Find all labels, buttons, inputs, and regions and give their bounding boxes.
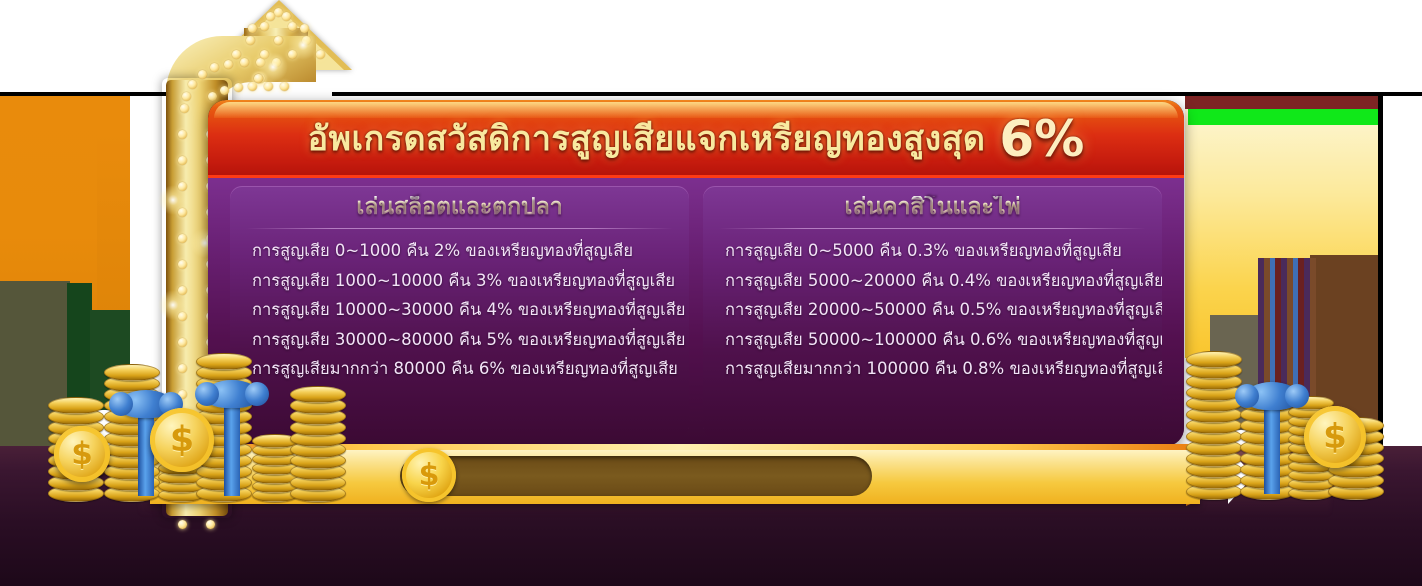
dollar-coin-icon: $ bbox=[54, 426, 110, 482]
rebate-tier-row: การสูญเสีย 50000~100000 คืน 0.6% ของเหรี… bbox=[725, 326, 1162, 356]
promo-banner: อัพเกรดสวัสดิการสูญเสียแจกเหรียญทองสูงสุ… bbox=[0, 0, 1422, 586]
rebate-tier-row: การสูญเสีย 5000~20000 คืน 0.4% ของเหรียญ… bbox=[725, 267, 1162, 297]
gift-ribbon bbox=[1264, 402, 1280, 494]
column-divider bbox=[719, 228, 1146, 229]
coin-pile-left: $$ bbox=[38, 330, 358, 510]
coin bbox=[104, 364, 160, 381]
background-block-green-right bbox=[1188, 109, 1380, 125]
promo-column-casino-cards: เล่นคาสิโนและไพ่ การสูญเสีย 0~5000 คืน 0… bbox=[703, 186, 1162, 438]
rebate-tier-row: การสูญเสีย 20000~50000 คืน 0.5% ของเหรีย… bbox=[725, 296, 1162, 326]
coin-pile-right: $ bbox=[1178, 320, 1398, 510]
promo-columns: เล่นสล็อตและตกปลา การสูญเสีย 0~1000 คืน … bbox=[230, 186, 1162, 438]
column-heading-text: เล่นสล็อตและตกปลา bbox=[356, 196, 562, 219]
rebate-tier-row: การสูญเสียมากกว่า 100000 คืน 0.8% ของเหร… bbox=[725, 355, 1162, 385]
gift-ribbon bbox=[138, 410, 154, 496]
dollar-coin-icon: $ bbox=[402, 448, 456, 502]
rebate-tier-list-casino-cards: การสูญเสีย 0~5000 คืน 0.3% ของเหรียญทองท… bbox=[703, 235, 1162, 385]
column-heading-slots-fishing: เล่นสล็อตและตกปลา bbox=[230, 186, 689, 228]
dollar-coin-symbol: $ bbox=[1323, 417, 1347, 457]
gift-bow-icon bbox=[1245, 382, 1299, 410]
coin bbox=[48, 397, 104, 414]
dollar-coin-icon: $ bbox=[150, 408, 214, 472]
column-heading-text: เล่นคาสิโนและไพ่ bbox=[844, 196, 1020, 219]
gift-bow-icon bbox=[205, 380, 259, 408]
dollar-coin-icon: $ bbox=[1304, 406, 1366, 468]
coin bbox=[1186, 351, 1242, 368]
coin-stack bbox=[290, 392, 344, 502]
dollar-coin-symbol: $ bbox=[71, 436, 93, 472]
dollar-coin-symbol: $ bbox=[419, 458, 440, 493]
column-divider bbox=[246, 228, 673, 229]
column-heading-casino-cards: เล่นคาสิโนและไพ่ bbox=[703, 186, 1162, 228]
promo-title-text: อัพเกรดสวัสดิการสูญเสียแจกเหรียญทองสูงสุ… bbox=[308, 122, 986, 156]
promo-title-percent: 6% bbox=[999, 114, 1084, 164]
rebate-tier-row: การสูญเสีย 0~1000 คืน 2% ของเหรียญทองที่… bbox=[252, 237, 689, 267]
promo-title: อัพเกรดสวัสดิการสูญเสียแจกเหรียญทองสูงสุ… bbox=[208, 100, 1184, 178]
coin-stack bbox=[1186, 357, 1240, 500]
rebate-tier-row: การสูญเสีย 1000~10000 คืน 3% ของเหรียญทอ… bbox=[252, 267, 689, 297]
ribbon-input-field[interactable] bbox=[400, 456, 872, 496]
rebate-tier-row: การสูญเสีย 10000~30000 คืน 4% ของเหรียญท… bbox=[252, 296, 689, 326]
coin bbox=[196, 353, 252, 370]
gift-ribbon bbox=[224, 400, 240, 496]
rebate-tier-row: การสูญเสีย 0~5000 คืน 0.3% ของเหรียญทองท… bbox=[725, 237, 1162, 267]
coin bbox=[290, 386, 346, 403]
dollar-coin-symbol: $ bbox=[170, 420, 194, 460]
